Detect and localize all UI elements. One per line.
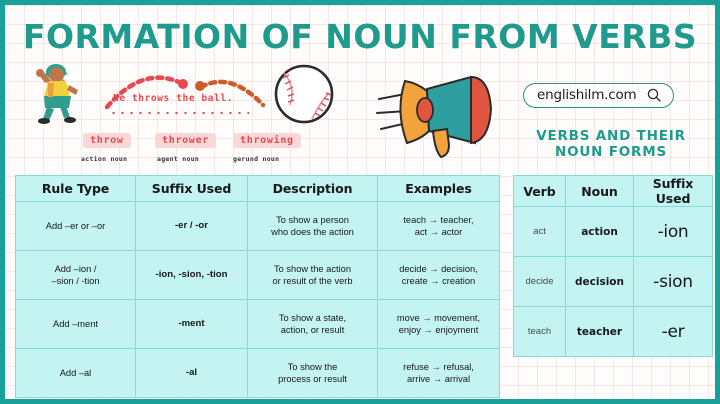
table-row: decide decision -sion: [514, 257, 713, 307]
poster-canvas: FORMATION OF NOUN FROM VERBS H: [0, 0, 720, 404]
cell-description: To show the process or result: [248, 349, 378, 398]
cell-suffix: -ion, -sion, -tion: [136, 251, 248, 300]
sentence-caption: He throws the ball.: [113, 93, 233, 104]
dotted-underline: [109, 111, 249, 115]
desc-line-2: who does the action: [252, 226, 373, 238]
tagline-line-1: VERBS AND THEIR: [513, 128, 709, 144]
chip-label-agent-noun: agent noun: [157, 155, 199, 163]
desc-line-2: process or result: [252, 373, 373, 385]
rule-line-2: –sion / -tion: [20, 275, 131, 287]
brand-badge[interactable]: englishilm.com: [523, 83, 674, 108]
desc-line-2: or result of the verb: [252, 275, 373, 287]
cell-suffix: -sion: [634, 257, 713, 307]
tagline: VERBS AND THEIR NOUN FORMS: [513, 128, 709, 160]
example-line-1: decide → decision,: [382, 263, 495, 275]
cell-suffix: -ment: [136, 300, 248, 349]
example-line-2: arrive → arrival: [382, 373, 495, 385]
cell-suffix: -er / -or: [136, 202, 248, 251]
chip-word-thrower: thrower: [155, 133, 216, 148]
cell-examples: decide → decision, create → creation: [378, 251, 500, 300]
desc-line-2: action, or result: [252, 324, 373, 336]
table-row: Add –al -al To show the process or resul…: [16, 349, 500, 398]
word-form-chips: throw action noun thrower agent noun thr…: [5, 133, 335, 167]
cell-examples: move → movement, enjoy → enjoyment: [378, 300, 500, 349]
cell-suffix: -er: [634, 307, 713, 357]
chip-label-gerund-noun: gerund noun: [233, 155, 279, 163]
col-verb: Verb: [514, 176, 566, 207]
cell-verb: teach: [514, 307, 566, 357]
desc-line-1: To show a person: [252, 214, 373, 226]
table-header-row: Verb Noun Suffix Used: [514, 176, 713, 207]
desc-line-1: To show the action: [252, 263, 373, 275]
baseball-icon: [273, 63, 335, 125]
table-row: act action -ion: [514, 207, 713, 257]
table-row: teach teacher -er: [514, 307, 713, 357]
desc-line-1: To show a state,: [252, 312, 373, 324]
verbs-table: Verb Noun Suffix Used act action -ion de…: [513, 175, 713, 357]
table-header-row: Rule Type Suffix Used Description Exampl…: [16, 176, 500, 202]
cell-suffix: -ion: [634, 207, 713, 257]
cell-description: To show a state, action, or result: [248, 300, 378, 349]
cell-examples: teach → teacher, act → actor: [378, 202, 500, 251]
rule-line-1: Add –ion /: [20, 263, 131, 275]
col-noun: Noun: [566, 176, 634, 207]
cell-description: To show a person who does the action: [248, 202, 378, 251]
cell-rule: Add –ment: [16, 300, 136, 349]
example-line-1: teach → teacher,: [382, 214, 495, 226]
example-line-2: create → creation: [382, 275, 495, 287]
table-row: Add –er or –or -er / -or To show a perso…: [16, 202, 500, 251]
cell-suffix: -al: [136, 349, 248, 398]
example-line-1: move → movement,: [382, 312, 495, 324]
col-examples: Examples: [378, 176, 500, 202]
boy-throwing-icon: [29, 61, 87, 125]
table-row: Add –ment -ment To show a state, action,…: [16, 300, 500, 349]
megaphone-icon: [375, 61, 503, 161]
cell-noun: decision: [566, 257, 634, 307]
cell-noun: action: [566, 207, 634, 257]
cell-examples: refuse → refusal, arrive → arrival: [378, 349, 500, 398]
search-icon: [647, 88, 661, 102]
example-line-2: enjoy → enjoyment: [382, 324, 495, 336]
cell-rule: Add –ion / –sion / -tion: [16, 251, 136, 300]
cell-description: To show the action or result of the verb: [248, 251, 378, 300]
cell-verb: act: [514, 207, 566, 257]
chip-word-throwing: throwing: [233, 133, 301, 148]
cell-rule: Add –al: [16, 349, 136, 398]
chip-label-action-noun: action noun: [81, 155, 127, 163]
col-suffix-used: Suffix Used: [634, 176, 713, 207]
col-rule-type: Rule Type: [16, 176, 136, 202]
col-description: Description: [248, 176, 378, 202]
page-title: FORMATION OF NOUN FROM VERBS: [5, 17, 715, 56]
throw-arc-dashes: [101, 67, 281, 111]
col-suffix-used: Suffix Used: [136, 176, 248, 202]
table-row: Add –ion / –sion / -tion -ion, -sion, -t…: [16, 251, 500, 300]
cell-rule: Add –er or –or: [16, 202, 136, 251]
chip-word-throw: throw: [83, 133, 131, 148]
rules-table: Rule Type Suffix Used Description Exampl…: [15, 175, 500, 398]
brand-name: englishilm.com: [537, 87, 637, 103]
example-line-1: refuse → refusal,: [382, 361, 495, 373]
desc-line-1: To show the: [252, 361, 373, 373]
example-line-2: act → actor: [382, 226, 495, 238]
cell-verb: decide: [514, 257, 566, 307]
cell-noun: teacher: [566, 307, 634, 357]
tagline-line-2: NOUN FORMS: [513, 144, 709, 160]
